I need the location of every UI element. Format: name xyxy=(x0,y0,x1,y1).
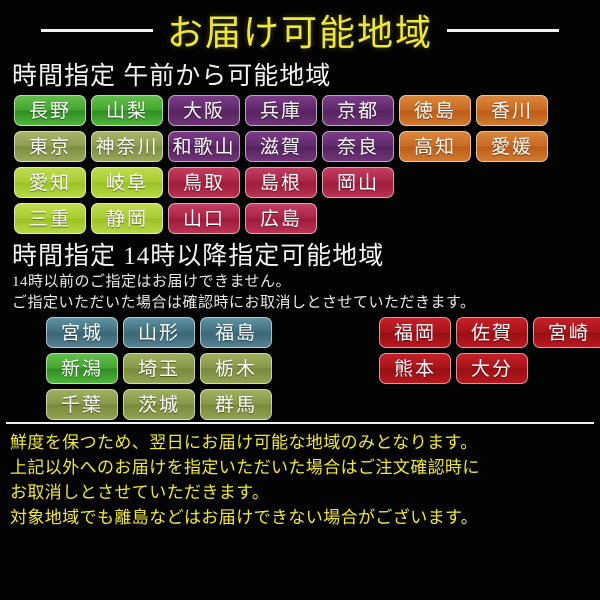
section-morning-heading: 時間指定 午前から可能地域 xyxy=(0,56,600,92)
section-morning: 時間指定 午前から可能地域 長野山梨大阪兵庫京都徳島香川東京神奈川和歌山滋賀奈良… xyxy=(0,56,600,236)
section-afternoon: 時間指定 14時以降指定可能地域 14時以前のご指定はお届けできません。 ご指定… xyxy=(0,236,600,422)
prefecture-chip[interactable]: 岐阜 xyxy=(91,167,163,198)
prefecture-chip[interactable]: 宮崎 xyxy=(533,317,600,348)
prefecture-chip[interactable]: 兵庫 xyxy=(245,95,317,126)
section-afternoon-note-2: ご指定いただいた場合は確認時にお取消しとさせていただきます。 xyxy=(0,293,600,314)
prefecture-chip[interactable]: 愛媛 xyxy=(476,131,548,162)
title-rule-left xyxy=(41,29,153,32)
prefecture-row: 宮城山形福島福岡佐賀宮崎 xyxy=(0,314,600,350)
prefecture-chip[interactable]: 徳島 xyxy=(399,95,471,126)
section-afternoon-heading: 時間指定 14時以降指定可能地域 xyxy=(0,236,600,272)
prefecture-chip[interactable]: 三重 xyxy=(14,203,86,234)
prefecture-row: 新潟埼玉栃木熊本大分 xyxy=(0,350,600,386)
section-afternoon-note-1: 14時以前のご指定はお届けできません。 xyxy=(0,272,600,293)
prefecture-chip[interactable]: 栃木 xyxy=(200,353,272,384)
prefecture-chip[interactable]: 高知 xyxy=(399,131,471,162)
prefecture-chip[interactable]: 広島 xyxy=(245,203,317,234)
prefecture-row: 長野山梨大阪兵庫京都徳島香川 xyxy=(0,92,600,128)
section-afternoon-grid: 宮城山形福島福岡佐賀宮崎新潟埼玉栃木熊本大分千葉茨城群馬 xyxy=(0,314,600,422)
prefecture-chip[interactable]: 滋賀 xyxy=(245,131,317,162)
page-title: お届け可能地域 xyxy=(167,4,433,56)
footer-notes: 鮮度を保つため、翌日にお届け可能な地域のみとなります。上記以外へのお届けを指定い… xyxy=(0,424,600,530)
footer-note-line: 上記以外へのお届けを指定いただいた場合はご注文確認時に xyxy=(10,455,600,480)
prefecture-chip[interactable]: 山形 xyxy=(123,317,195,348)
title-rule-right xyxy=(447,29,559,32)
footer-note-line: 対象地域でも離島などはお届けできない場合がございます。 xyxy=(10,505,600,530)
prefecture-chip[interactable]: 福岡 xyxy=(379,317,451,348)
prefecture-chip[interactable]: 神奈川 xyxy=(91,131,163,162)
prefecture-chip[interactable]: 群馬 xyxy=(200,389,272,420)
prefecture-chip[interactable]: 大分 xyxy=(456,353,528,384)
prefecture-chip[interactable]: 千葉 xyxy=(46,389,118,420)
footer-note-line: お取消しとさせていただきます。 xyxy=(10,480,600,505)
prefecture-chip[interactable]: 東京 xyxy=(14,131,86,162)
prefecture-chip[interactable]: 長野 xyxy=(14,95,86,126)
prefecture-chip[interactable]: 静岡 xyxy=(91,203,163,234)
prefecture-chip[interactable]: 大阪 xyxy=(168,95,240,126)
prefecture-chip[interactable]: 愛知 xyxy=(14,167,86,198)
prefecture-chip[interactable]: 香川 xyxy=(476,95,548,126)
prefecture-chip[interactable]: 岡山 xyxy=(322,167,394,198)
prefecture-chip[interactable]: 佐賀 xyxy=(456,317,528,348)
prefecture-row: 東京神奈川和歌山滋賀奈良高知愛媛 xyxy=(0,128,600,164)
prefecture-row: 千葉茨城群馬 xyxy=(0,386,600,422)
prefecture-chip[interactable]: 茨城 xyxy=(123,389,195,420)
prefecture-row: 三重静岡山口広島 xyxy=(0,200,600,236)
prefecture-chip[interactable]: 京都 xyxy=(322,95,394,126)
prefecture-chip[interactable]: 福島 xyxy=(200,317,272,348)
page-title-bar: お届け可能地域 xyxy=(0,0,600,56)
prefecture-chip[interactable]: 熊本 xyxy=(379,353,451,384)
prefecture-chip[interactable]: 和歌山 xyxy=(168,131,240,162)
prefecture-chip[interactable]: 埼玉 xyxy=(123,353,195,384)
prefecture-chip[interactable]: 新潟 xyxy=(46,353,118,384)
prefecture-chip[interactable]: 島根 xyxy=(245,167,317,198)
prefecture-row: 愛知岐阜鳥取島根岡山 xyxy=(0,164,600,200)
prefecture-chip[interactable]: 山口 xyxy=(168,203,240,234)
delivery-area-infographic: お届け可能地域 時間指定 午前から可能地域 長野山梨大阪兵庫京都徳島香川東京神奈… xyxy=(0,0,600,600)
section-morning-grid: 長野山梨大阪兵庫京都徳島香川東京神奈川和歌山滋賀奈良高知愛媛愛知岐阜鳥取島根岡山… xyxy=(0,92,600,236)
footer-note-line: 鮮度を保つため、翌日にお届け可能な地域のみとなります。 xyxy=(10,430,600,455)
prefecture-chip[interactable]: 山梨 xyxy=(91,95,163,126)
prefecture-chip[interactable]: 宮城 xyxy=(46,317,118,348)
prefecture-chip[interactable]: 鳥取 xyxy=(168,167,240,198)
prefecture-chip[interactable]: 奈良 xyxy=(322,131,394,162)
